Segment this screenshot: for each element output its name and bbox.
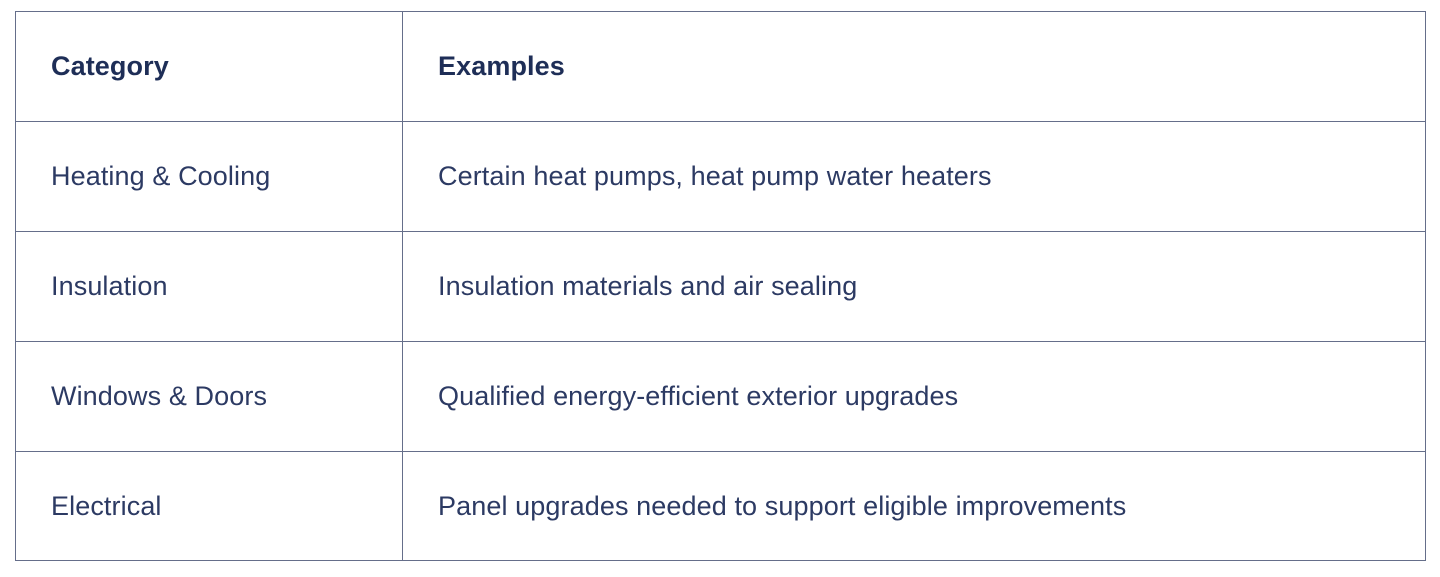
cell-category-text: Windows & Doors <box>51 380 402 412</box>
table-row: Windows & Doors Qualified energy-efficie… <box>16 342 1426 452</box>
column-header-examples-label: Examples <box>438 51 1425 82</box>
cell-examples: Panel upgrades needed to support eligibl… <box>403 452 1426 561</box>
table-row: Heating & Cooling Certain heat pumps, he… <box>16 122 1426 232</box>
cell-examples-text: Insulation materials and air sealing <box>438 270 1425 302</box>
cell-examples: Certain heat pumps, heat pump water heat… <box>403 122 1426 232</box>
cell-examples: Insulation materials and air sealing <box>403 232 1426 342</box>
column-header-examples: Examples <box>403 12 1426 122</box>
table-header: Category Examples <box>16 12 1426 122</box>
cell-examples-text: Qualified energy-efficient exterior upgr… <box>438 380 1425 412</box>
cell-examples-text: Certain heat pumps, heat pump water heat… <box>438 160 1425 192</box>
cell-category-text: Insulation <box>51 270 402 302</box>
table-header-row: Category Examples <box>16 12 1426 122</box>
column-header-category-label: Category <box>51 51 402 82</box>
table-row: Electrical Panel upgrades needed to supp… <box>16 452 1426 561</box>
table-row: Insulation Insulation materials and air … <box>16 232 1426 342</box>
table-body: Heating & Cooling Certain heat pumps, he… <box>16 122 1426 561</box>
cell-category-text: Heating & Cooling <box>51 160 402 192</box>
cell-category: Heating & Cooling <box>16 122 403 232</box>
cell-examples-text: Panel upgrades needed to support eligibl… <box>438 490 1425 522</box>
cell-category: Windows & Doors <box>16 342 403 452</box>
cell-examples: Qualified energy-efficient exterior upgr… <box>403 342 1426 452</box>
page-root: Category Examples Heating & Cooling Cert… <box>0 0 1440 577</box>
cell-category: Insulation <box>16 232 403 342</box>
cell-category-text: Electrical <box>51 490 402 522</box>
cell-category: Electrical <box>16 452 403 561</box>
eligibility-table: Category Examples Heating & Cooling Cert… <box>15 11 1426 561</box>
column-header-category: Category <box>16 12 403 122</box>
